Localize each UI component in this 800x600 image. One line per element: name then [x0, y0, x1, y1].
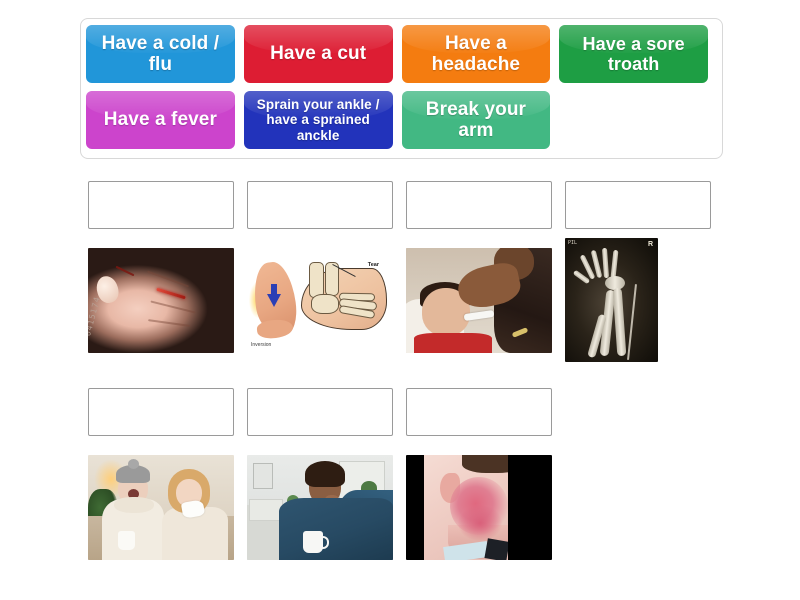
- woman-sore-throat-photo: [247, 455, 393, 560]
- picture-wrap-ankle: Inversion Tear: [247, 248, 393, 353]
- dropzone-broken-arm[interactable]: [565, 181, 711, 229]
- palm-crease: [147, 271, 189, 288]
- broken-arm-xray-photo: PIL R: [565, 238, 658, 362]
- red-rash-shape: [458, 505, 502, 541]
- picture-wrap-cut: 0415174: [88, 248, 234, 353]
- hat-pompom-shape: [128, 459, 139, 469]
- woman-hair-shape: [305, 461, 345, 487]
- inversion-arrow-icon: [267, 294, 281, 307]
- couple-with-cold-photo: [88, 455, 234, 560]
- answer-item-headache: [406, 388, 552, 560]
- answer-item-cold: [88, 388, 234, 560]
- child-shirt-shape: [414, 333, 492, 353]
- dropzone-cold-flu[interactable]: [88, 388, 234, 436]
- answer-item-cut: 0415174: [88, 181, 234, 362]
- finger-bone-shape: [611, 250, 619, 278]
- swollen-cheek-photo: [406, 455, 552, 560]
- picture-wrap-sore-throat: [247, 455, 393, 560]
- picture-wrap-cold: [88, 455, 234, 560]
- answer-item-ankle: Inversion Tear: [247, 181, 393, 362]
- activity-stage: Have a cold / flu Have a cut Have a head…: [0, 0, 800, 600]
- dropzone-sore-throat[interactable]: [247, 388, 393, 436]
- side-table-top-shape: [249, 499, 283, 521]
- tile-sprain-your-ankle[interactable]: Sprain your ankle / have a sprained anck…: [244, 91, 393, 149]
- answer-item-fever: [406, 181, 552, 362]
- tile-break-your-arm[interactable]: Break your arm: [402, 91, 551, 149]
- answer-item-xray: PIL R: [565, 181, 711, 362]
- dropzone-cut[interactable]: [88, 181, 234, 229]
- tile-label: Have a headache: [407, 33, 546, 76]
- wall-frame-shape: [253, 463, 273, 489]
- dropzone-headache[interactable]: [406, 388, 552, 436]
- child-temperature-photo: [406, 248, 552, 353]
- face-closeup-shape: [424, 455, 508, 560]
- tile-have-a-headache[interactable]: Have a headache: [402, 25, 551, 83]
- tile-label: Sprain your ankle / have a sprained anck…: [249, 97, 388, 142]
- picture-wrap-fever: [406, 248, 552, 353]
- tile-label: Have a cut: [270, 43, 366, 64]
- palm-crease: [148, 319, 190, 327]
- tile-label: Have a sore troath: [564, 34, 703, 74]
- answer-item-sore-throat: [247, 388, 393, 560]
- hair-shape: [462, 455, 508, 473]
- tile-label: Have a fever: [104, 109, 217, 130]
- diagram-caption-inversion: Inversion: [251, 342, 271, 348]
- xray-tag-left: PIL: [568, 240, 577, 246]
- picture-wrap-xray: PIL R: [565, 238, 711, 362]
- foot-toe-shape: [256, 318, 294, 340]
- finger-bone-shape: [602, 248, 609, 278]
- answer-row-1: 0415174 Inversion: [88, 181, 724, 362]
- picture-wrap-headache: [406, 455, 552, 560]
- dropzone-fever[interactable]: [406, 181, 552, 229]
- tile-have-a-cut[interactable]: Have a cut: [244, 25, 393, 83]
- radius-bone-shape: [613, 288, 627, 356]
- cut-wound-shape: [156, 288, 186, 300]
- mug-shape: [303, 531, 323, 553]
- tile-row-2: Have a fever Sprain your ankle / have a …: [86, 91, 717, 153]
- blanket-shape: [279, 498, 393, 560]
- diagram-label-tear: Tear: [368, 262, 379, 268]
- tile-tray: Have a cold / flu Have a cut Have a head…: [80, 18, 723, 159]
- cut-on-hand-photo: 0415174: [88, 248, 234, 353]
- answer-row-2: [88, 388, 565, 560]
- palm-crease: [150, 300, 195, 313]
- cut-wound-shape: [116, 266, 135, 277]
- dropzone-ankle[interactable]: [247, 181, 393, 229]
- tile-row-1: Have a cold / flu Have a cut Have a head…: [86, 25, 717, 87]
- tile-label: Have a cold / flu: [91, 33, 230, 76]
- sprained-ankle-diagram: Inversion Tear: [247, 248, 393, 353]
- xray-tag-right: R: [648, 241, 653, 248]
- talus-bone-shape: [311, 294, 339, 314]
- tile-have-a-sore-troath[interactable]: Have a sore troath: [559, 25, 708, 83]
- scarf-shape: [114, 497, 154, 513]
- tile-have-a-fever[interactable]: Have a fever: [86, 91, 235, 149]
- tile-label: Break your arm: [407, 99, 546, 142]
- necktie-shape: [484, 538, 508, 560]
- tile-have-a-cold-flu[interactable]: Have a cold / flu: [86, 25, 235, 83]
- tibia-bone-shape: [309, 262, 324, 298]
- mug-shape: [118, 531, 135, 550]
- tile-slot-empty: [559, 91, 708, 149]
- photo-watermark-code: 0415174: [88, 295, 102, 337]
- xray-rod-shape: [627, 284, 636, 360]
